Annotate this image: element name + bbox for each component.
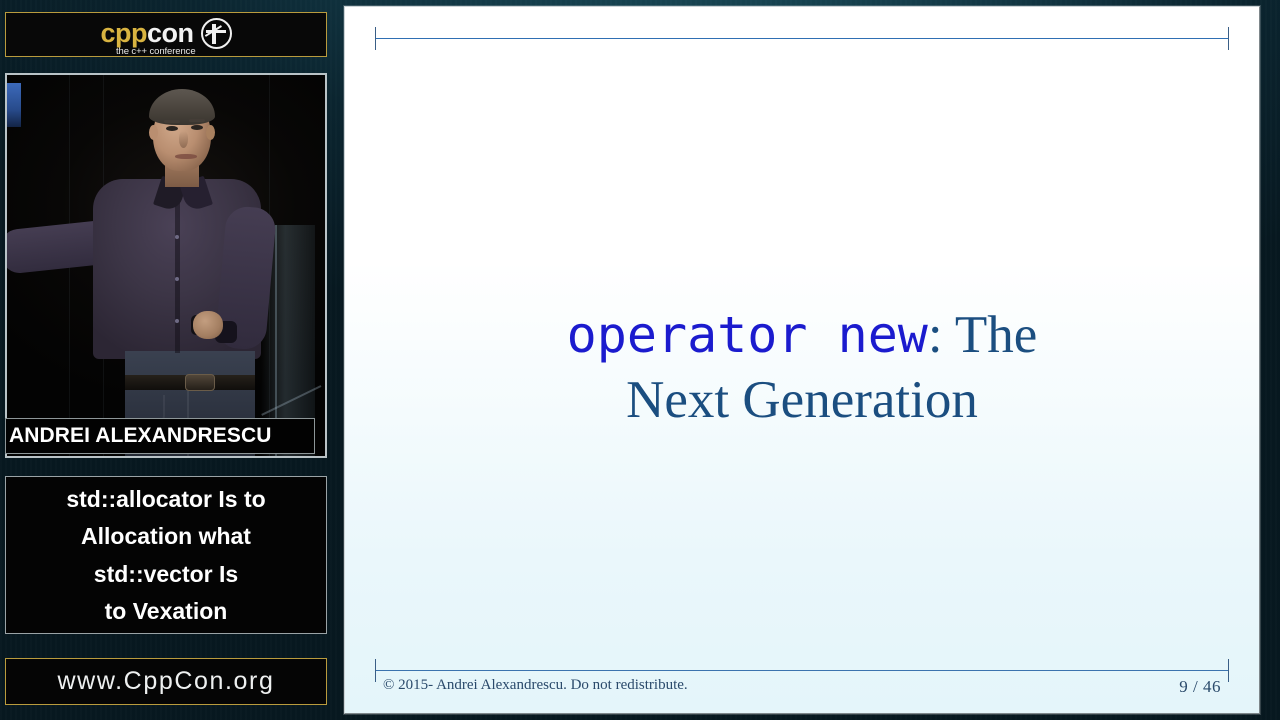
stage-monitor-glow <box>5 83 21 127</box>
talk-title-line-4: to Vexation <box>105 593 228 629</box>
speaker-shirt-placket <box>175 193 180 353</box>
slide-copyright: © 2015- Andrei Alexandrescu. Do not redi… <box>383 677 688 694</box>
logo-cpp-text: cpp <box>100 18 147 48</box>
slide-title-line-2: Next Generation <box>397 368 1207 433</box>
screen-root: cppcon the c++ conference <box>0 0 1280 720</box>
cppcon-logo: cppcon the c++ conference <box>100 18 231 49</box>
slide-panel: operator new: The Next Generation © 2015… <box>344 6 1260 714</box>
cppcon-logo-bar: cppcon the c++ conference <box>5 12 327 57</box>
slide-bottom-rule <box>375 670 1229 671</box>
speaker-eye-left <box>166 126 178 131</box>
slide-page-number: 9 / 46 <box>1179 677 1221 697</box>
slide-title-line2-text: Next Generation <box>626 371 978 429</box>
conference-url-text: www.CppCon.org <box>58 667 275 696</box>
talk-title-box: std::allocator Is to Allocation what std… <box>5 476 327 634</box>
slide-title: operator new: The Next Generation <box>345 303 1259 432</box>
slide-top-rule <box>375 38 1229 39</box>
speaker-belt-buckle <box>185 374 215 391</box>
speaker-name-plate: ANDREI ALEXANDRESCU <box>5 418 315 454</box>
logo-con-text: con <box>147 18 194 48</box>
speaker-name-text: ANDREI ALEXANDRESCU <box>9 424 271 448</box>
slide-title-line-1: operator new: The <box>397 303 1207 368</box>
crop-mark-top-left-icon <box>375 27 376 50</box>
logo-wordmark-text: cppcon <box>100 18 193 48</box>
speaker-eye-right <box>191 125 203 130</box>
conference-url-bar[interactable]: www.CppCon.org <box>5 658 327 705</box>
crop-mark-bottom-left-icon <box>375 659 376 682</box>
talk-title-line-3: std::vector Is <box>94 556 238 592</box>
slide-title-code: operator new <box>567 306 928 364</box>
plus-badge-icon <box>201 18 232 49</box>
slide-page: operator new: The Next Generation © 2015… <box>345 7 1259 713</box>
stage-background <box>7 75 325 456</box>
slide-title-suffix: : The <box>928 306 1037 364</box>
talk-title-line-1: std::allocator Is to <box>66 481 265 517</box>
speaker-video-feed <box>5 73 327 458</box>
crop-mark-top-right-icon <box>1228 27 1229 50</box>
crop-mark-bottom-right-icon <box>1228 659 1229 682</box>
talk-title-line-2: Allocation what <box>81 518 251 554</box>
logo-wordmark: cppcon the c++ conference <box>100 20 193 47</box>
speaker-hair <box>149 89 215 125</box>
speaker-hand <box>193 311 223 339</box>
logo-tagline: the c++ conference <box>116 47 196 57</box>
conference-sidebar: cppcon the c++ conference <box>0 0 336 720</box>
